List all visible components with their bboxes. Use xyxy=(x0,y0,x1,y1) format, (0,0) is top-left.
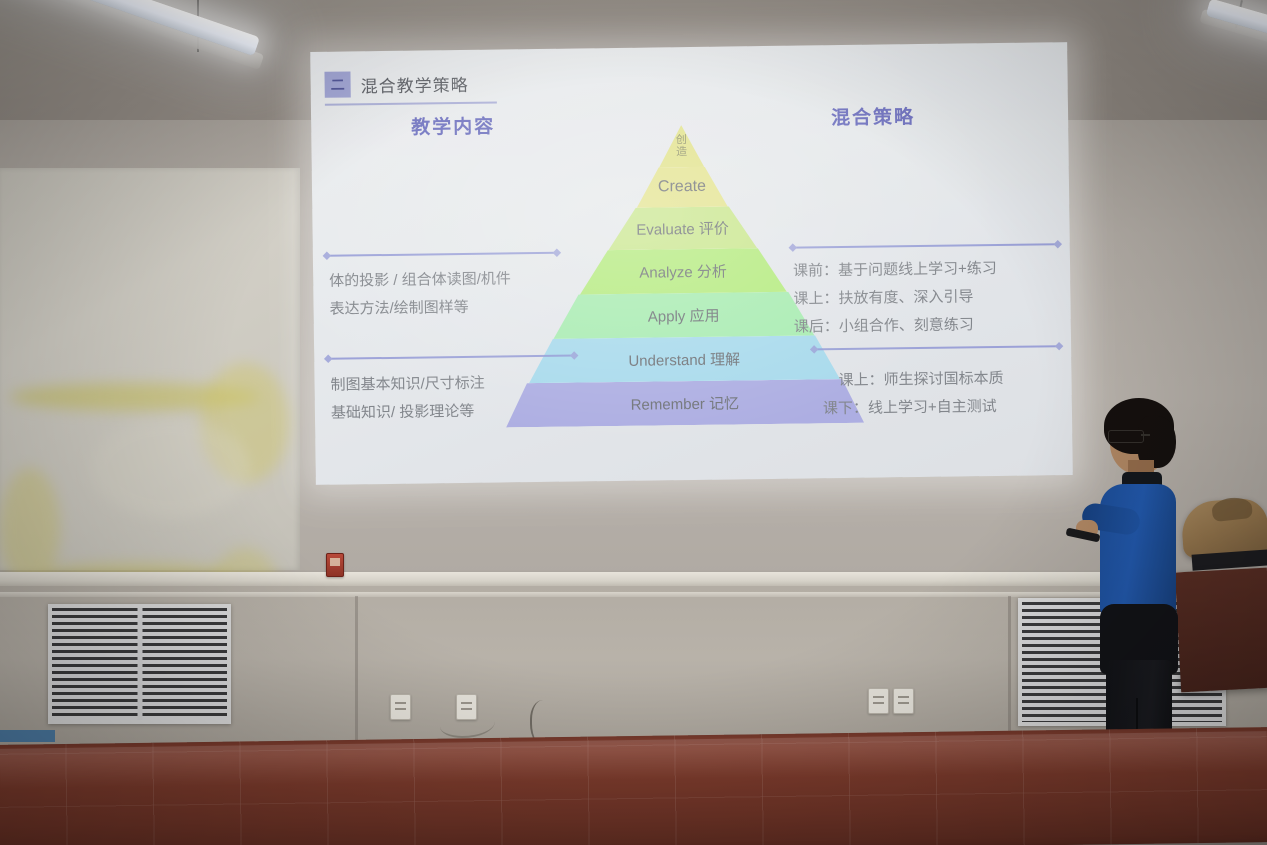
pyramid-apex-label-cn-1: 创 xyxy=(676,134,687,146)
right-content-upper-line-1: 课前：基于问题线上学习+练习 xyxy=(793,255,997,285)
right-content-lower: 课上：师生探讨国标本质 课下：线上学习+自主测试 xyxy=(822,365,1004,423)
section-header: 二 混合教学策略 xyxy=(324,70,468,98)
pyramid-level-remember: Remember 记忆 xyxy=(506,379,865,428)
whiteboard-left xyxy=(0,168,300,570)
pyramid-apex-create: 创 造 xyxy=(658,125,705,169)
left-content-upper-line-2: 表达方法/绘制图样等 xyxy=(329,293,511,323)
right-content-upper: 课前：基于问题线上学习+练习 课上：扶放有度、深入引导 课后：小组合作、刻意练习 xyxy=(793,255,998,341)
pyramid-level-evaluate: Evaluate 评价 xyxy=(607,206,758,251)
classroom-scene: 二 混合教学策略 教学内容 混合策略 创 造 Create Evaluate 评… xyxy=(0,0,1267,845)
right-content-upper-line-2: 课上：扶放有度、深入引导 xyxy=(793,283,997,313)
pyramid-apex-label-cn-2: 造 xyxy=(676,146,687,158)
pyramid-level-understand: Understand 理解 xyxy=(528,335,841,384)
left-content-lower-line-1: 制图基本知识/尺寸标注 xyxy=(330,370,485,400)
section-title: 混合教学策略 xyxy=(360,70,468,96)
grille-divider xyxy=(137,608,142,720)
wall-outlet[interactable] xyxy=(893,688,914,714)
right-content-lower-line-1: 课上：师生探讨国标本质 xyxy=(838,365,1003,395)
section-number-badge: 二 xyxy=(324,71,350,97)
projected-slide: 二 混合教学策略 教学内容 混合策略 创 造 Create Evaluate 评… xyxy=(310,42,1073,485)
wall-stain xyxy=(90,418,250,518)
left-content-lower-line-2: 基础知识/ 投影理论等 xyxy=(331,397,486,427)
dado-rail xyxy=(0,592,1267,597)
wall-panel-seam-right xyxy=(1008,596,1011,746)
wall-outlet[interactable] xyxy=(390,694,411,720)
red-wall-box xyxy=(326,553,344,577)
radiator-grille-left xyxy=(48,604,231,724)
presenter-blue-sweater xyxy=(1100,484,1176,616)
wall-outlet[interactable] xyxy=(868,688,889,714)
glasses-icon xyxy=(1108,430,1144,443)
left-content-upper: 体的投影 / 组合体读图/机件 表达方法/绘制图样等 xyxy=(329,265,511,323)
pyramid-level-apply: Apply 应用 xyxy=(552,291,815,339)
section-underline xyxy=(325,102,497,106)
right-content-upper-line-3: 课后：小组合作、刻意练习 xyxy=(794,310,998,340)
left-content-lower: 制图基本知识/尺寸标注 基础知识/ 投影理论等 xyxy=(330,370,485,428)
floor-blue-strip xyxy=(0,730,55,742)
pyramid-level-analyze: Analyze 分析 xyxy=(579,248,788,296)
right-content-lower-line-2: 课下：线上学习+自主测试 xyxy=(823,393,1004,423)
pyramid-level-create: Create xyxy=(636,167,729,209)
left-content-upper-line-1: 体的投影 / 组合体读图/机件 xyxy=(329,265,511,295)
column-heading-left: 教学内容 xyxy=(411,112,495,140)
wall-panel-seam-left xyxy=(355,596,358,746)
